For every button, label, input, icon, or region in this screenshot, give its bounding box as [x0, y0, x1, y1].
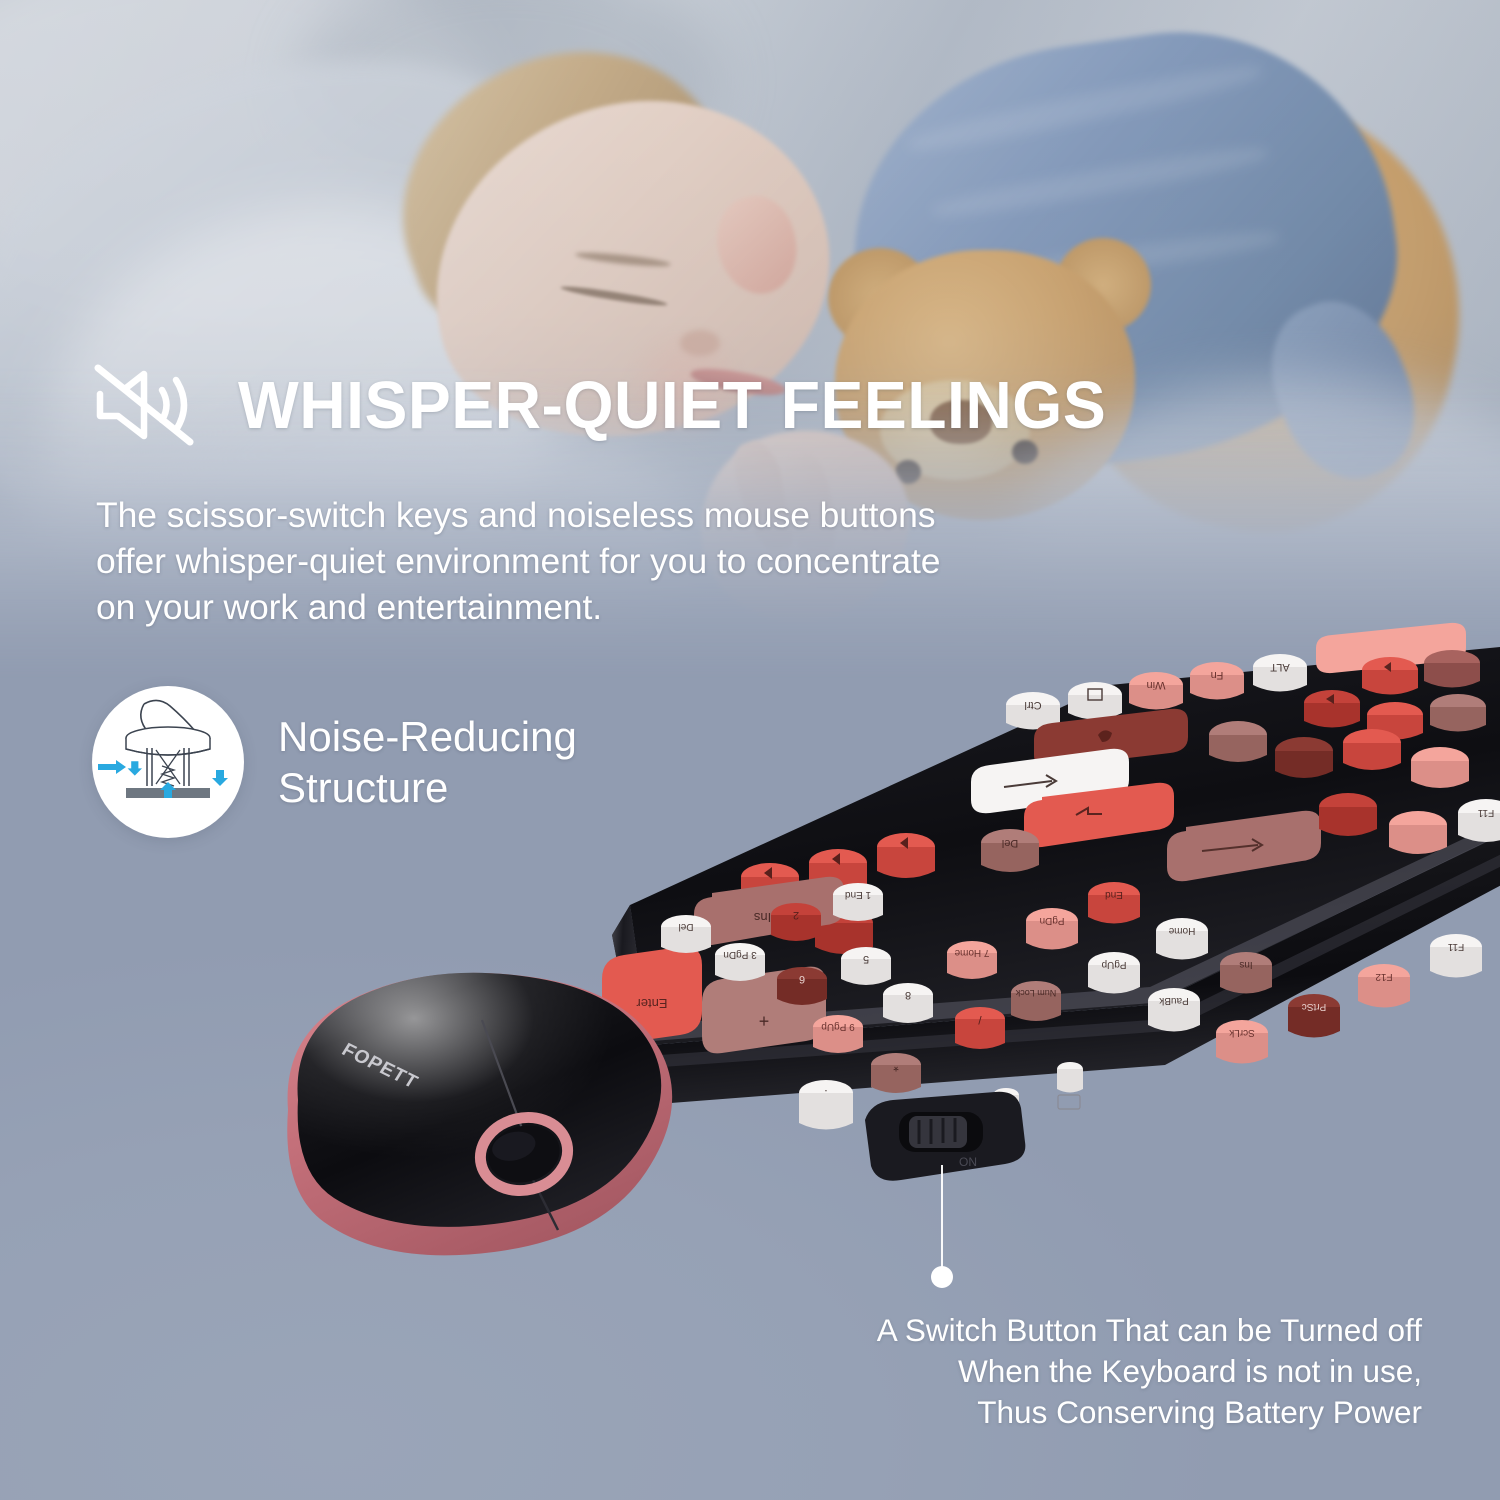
caption-line: A Switch Button That can be Turned off [662, 1310, 1422, 1351]
svg-text:F11: F11 [1477, 807, 1494, 818]
svg-text:PrtSc: PrtSc [1302, 1001, 1326, 1012]
scissor-switch-diagram-icon [92, 686, 244, 838]
svg-text:1 End: 1 End [845, 889, 871, 900]
svg-text:Fn: Fn [1211, 669, 1224, 681]
svg-text:Win: Win [1147, 679, 1166, 691]
svg-text:7 Home: 7 Home [954, 947, 989, 958]
feature-label-line: Noise-Reducing [278, 711, 577, 762]
feature-label: Noise-Reducing Structure [278, 711, 577, 813]
callout-caption: A Switch Button That can be Turned off W… [662, 1310, 1422, 1433]
headline-row: WHISPER-QUIET FEELINGS [92, 364, 1142, 446]
caption-line: When the Keyboard is not in use, [662, 1351, 1422, 1392]
svg-text:PgUp: PgUp [1101, 959, 1126, 970]
svg-text:F12: F12 [1375, 971, 1393, 982]
svg-text:8: 8 [905, 989, 911, 1001]
svg-text:Num Lock: Num Lock [1015, 988, 1056, 998]
page-title: WHISPER-QUIET FEELINGS [238, 372, 1106, 439]
marketing-banner: WHISPER-QUIET FEELINGS The scissor-switc… [0, 0, 1500, 1500]
power-switch-toggle[interactable]: ON [855, 1090, 1045, 1200]
svg-text:Del: Del [1002, 837, 1019, 849]
svg-text:Home: Home [1168, 925, 1195, 936]
switch-label: ON [959, 1155, 977, 1169]
svg-text:Ctrl: Ctrl [1024, 699, 1041, 711]
svg-text:2: 2 [793, 909, 799, 921]
svg-text:F11: F11 [1447, 941, 1464, 952]
svg-text:6: 6 [799, 973, 805, 985]
svg-text:*: * [893, 1059, 899, 1075]
callout-dot [931, 1266, 953, 1288]
svg-text:5: 5 [863, 953, 869, 965]
svg-text:+: + [759, 1011, 770, 1031]
svg-text:PgDn: PgDn [1039, 915, 1064, 926]
svg-text:ALT: ALT [1270, 661, 1290, 673]
callout-line [941, 1165, 943, 1273]
keyboard: ALT Fn Win Ctrl [590, 575, 1500, 1175]
body-line: The scissor-switch keys and noiseless mo… [96, 492, 1176, 538]
feature-label-line: Structure [278, 762, 577, 813]
svg-text:PauBk: PauBk [1158, 995, 1188, 1006]
svg-text:End: End [1105, 889, 1123, 900]
feature-badge: Noise-Reducing Structure [92, 686, 577, 838]
svg-text:.: . [824, 1087, 827, 1101]
mute-speaker-icon [92, 364, 212, 446]
svg-text:Del: Del [678, 921, 693, 932]
svg-text:3 PgDn: 3 PgDn [723, 949, 756, 960]
caption-line: Thus Conserving Battery Power [662, 1392, 1422, 1433]
svg-text:9 PgUp: 9 PgUp [821, 1021, 855, 1032]
wireless-mouse: FOPETT [258, 958, 698, 1288]
svg-text:Ins: Ins [1239, 959, 1252, 970]
svg-text:ScrLk: ScrLk [1228, 1027, 1255, 1038]
scissor-switch-diagram [92, 686, 244, 838]
